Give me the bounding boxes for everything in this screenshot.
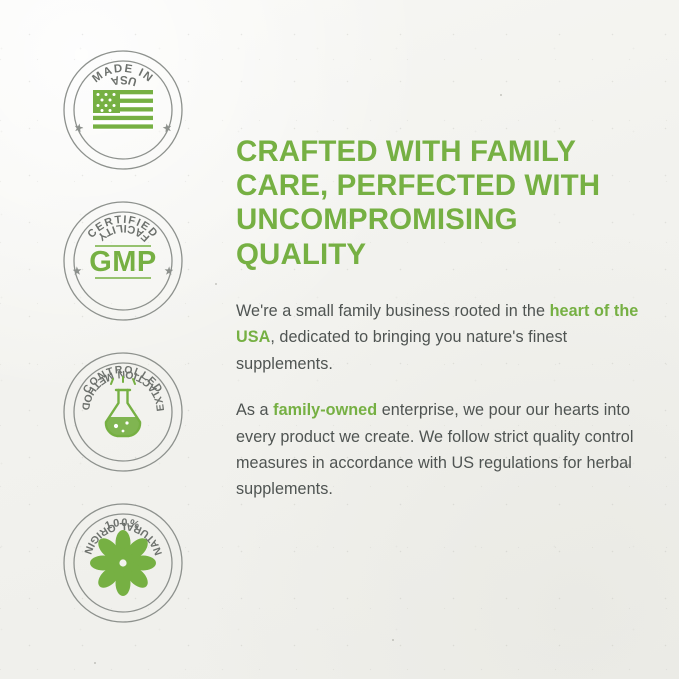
svg-text:GMP: GMP <box>89 246 157 278</box>
certification-badges: MADE IN USA <box>61 48 201 652</box>
paragraph-one-part-1: We're a small family business rooted in … <box>236 302 550 320</box>
badge-controlled-extraction-method: CONTROLLED EXTACTION METHOD <box>61 350 185 474</box>
badge-made-in-usa: MADE IN USA <box>61 48 185 172</box>
leaf-rosette-icon <box>90 530 156 596</box>
promo-banner: MADE IN USA <box>0 0 679 679</box>
paragraph-one-part-2: , dedicated to bringing you nature's fin… <box>236 328 567 372</box>
usa-flag-icon <box>93 90 153 130</box>
svg-text:USA: USA <box>108 73 139 87</box>
badge-natural-origin: 100% NATURAL ORIGIN <box>61 501 185 625</box>
content-column: CRAFTED WITH FAMILY CARE, PERFECTED WITH… <box>236 135 648 503</box>
paragraph-two-part-1: As a <box>236 401 273 419</box>
badge-certified-gmp-facility: CERTIFIED FACILITY GMP <box>61 199 185 323</box>
paper-speck <box>94 662 96 664</box>
paper-speck <box>215 283 217 285</box>
paper-speck <box>392 639 394 641</box>
paper-speck <box>500 94 502 96</box>
paragraph-two: As a family-owned enterprise, we pour ou… <box>236 397 648 503</box>
paragraph-one: We're a small family business rooted in … <box>236 298 648 377</box>
highlight-family-owned: family-owned <box>273 401 377 419</box>
gmp-text-icon: GMP <box>89 246 157 278</box>
page-title: CRAFTED WITH FAMILY CARE, PERFECTED WITH… <box>236 135 648 272</box>
